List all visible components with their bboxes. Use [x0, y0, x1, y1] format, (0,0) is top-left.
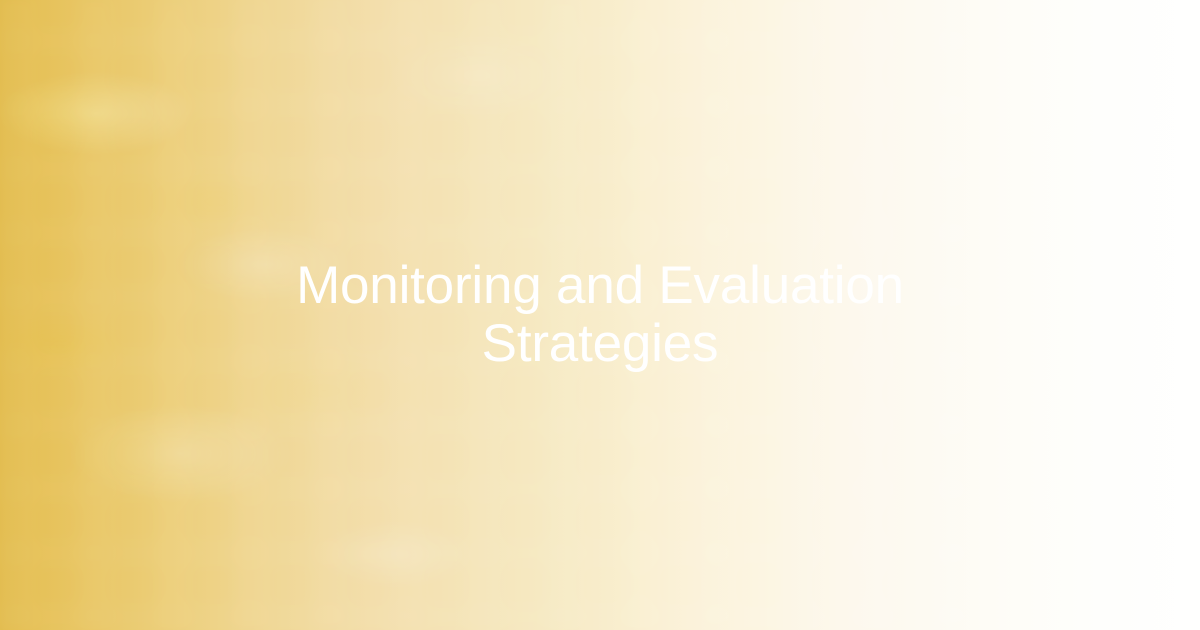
banner-content: Monitoring and Evaluation Strategies	[0, 0, 1200, 630]
banner-title: Monitoring and Evaluation Strategies	[270, 257, 930, 373]
banner-card: Monitoring and Evaluation Strategies	[0, 0, 1200, 630]
